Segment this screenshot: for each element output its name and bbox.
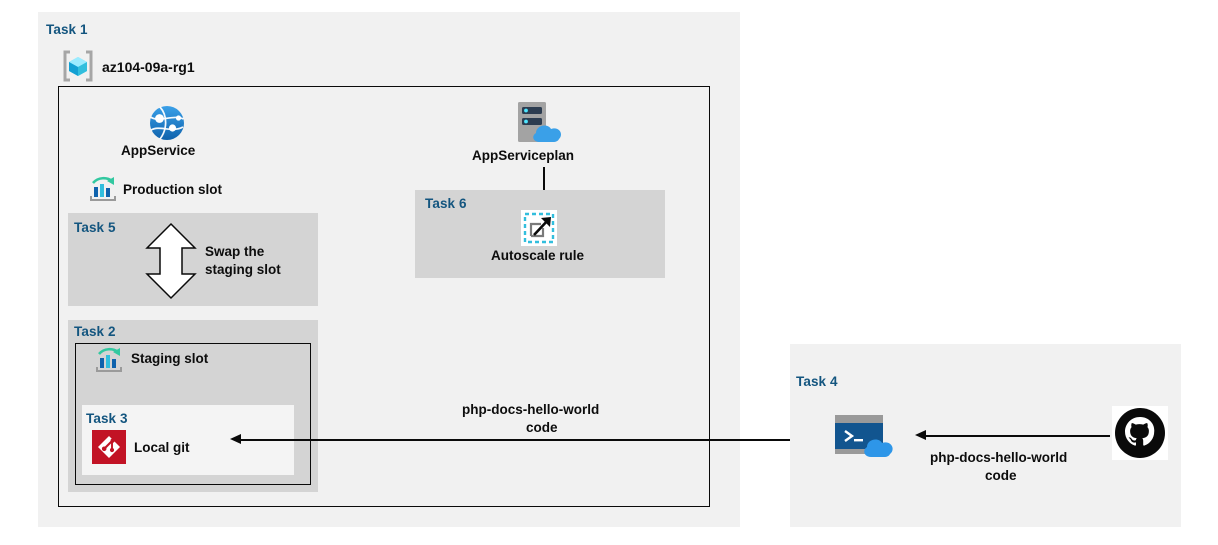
production-slot-label: Production slot	[123, 182, 222, 197]
cloud-shell-icon	[833, 413, 897, 459]
github-icon	[1112, 406, 1168, 460]
task5-action-line1: Swap the	[205, 244, 264, 260]
app-service-plan-icon	[513, 100, 567, 146]
github-to-cloudshell-arrowhead	[915, 430, 926, 440]
app-service-globe-icon	[147, 103, 187, 143]
autoscale-rule-label: Autoscale rule	[491, 248, 584, 263]
appserviceplan-label: AppServiceplan	[472, 148, 574, 163]
task6-label: Task 6	[425, 196, 467, 211]
task5-action-line2: staging slot	[205, 262, 281, 278]
resource-group-name: az104-09a-rg1	[102, 59, 195, 75]
github-to-cloudshell-line	[925, 435, 1110, 437]
staging-slot-icon	[94, 345, 124, 375]
task4-label: Task 4	[796, 374, 838, 389]
local-git-label: Local git	[134, 440, 190, 455]
code-flow-line2: code	[526, 420, 558, 436]
production-slot-icon	[88, 174, 118, 204]
task4-transfer-line1: php-docs-hello-world	[930, 450, 1067, 466]
code-flow-line1: php-docs-hello-world	[462, 402, 599, 418]
staging-slot-label: Staging slot	[131, 351, 208, 366]
task4-transfer-line2: code	[985, 468, 1017, 484]
task1-label: Task 1	[46, 22, 88, 37]
resource-group-icon	[60, 48, 96, 84]
task3-label: Task 3	[86, 411, 128, 426]
diagram-canvas: Task 1 az104-09a-rg1	[0, 0, 1218, 545]
github-to-localgit-line	[240, 439, 820, 441]
task2-label: Task 2	[74, 324, 116, 339]
autoscale-arrow-icon	[521, 210, 557, 246]
git-icon	[92, 430, 126, 464]
swap-double-arrow-icon	[143, 222, 199, 300]
task5-label: Task 5	[74, 220, 116, 235]
appservice-label: AppService	[121, 143, 195, 158]
github-to-localgit-arrowhead	[230, 434, 241, 444]
